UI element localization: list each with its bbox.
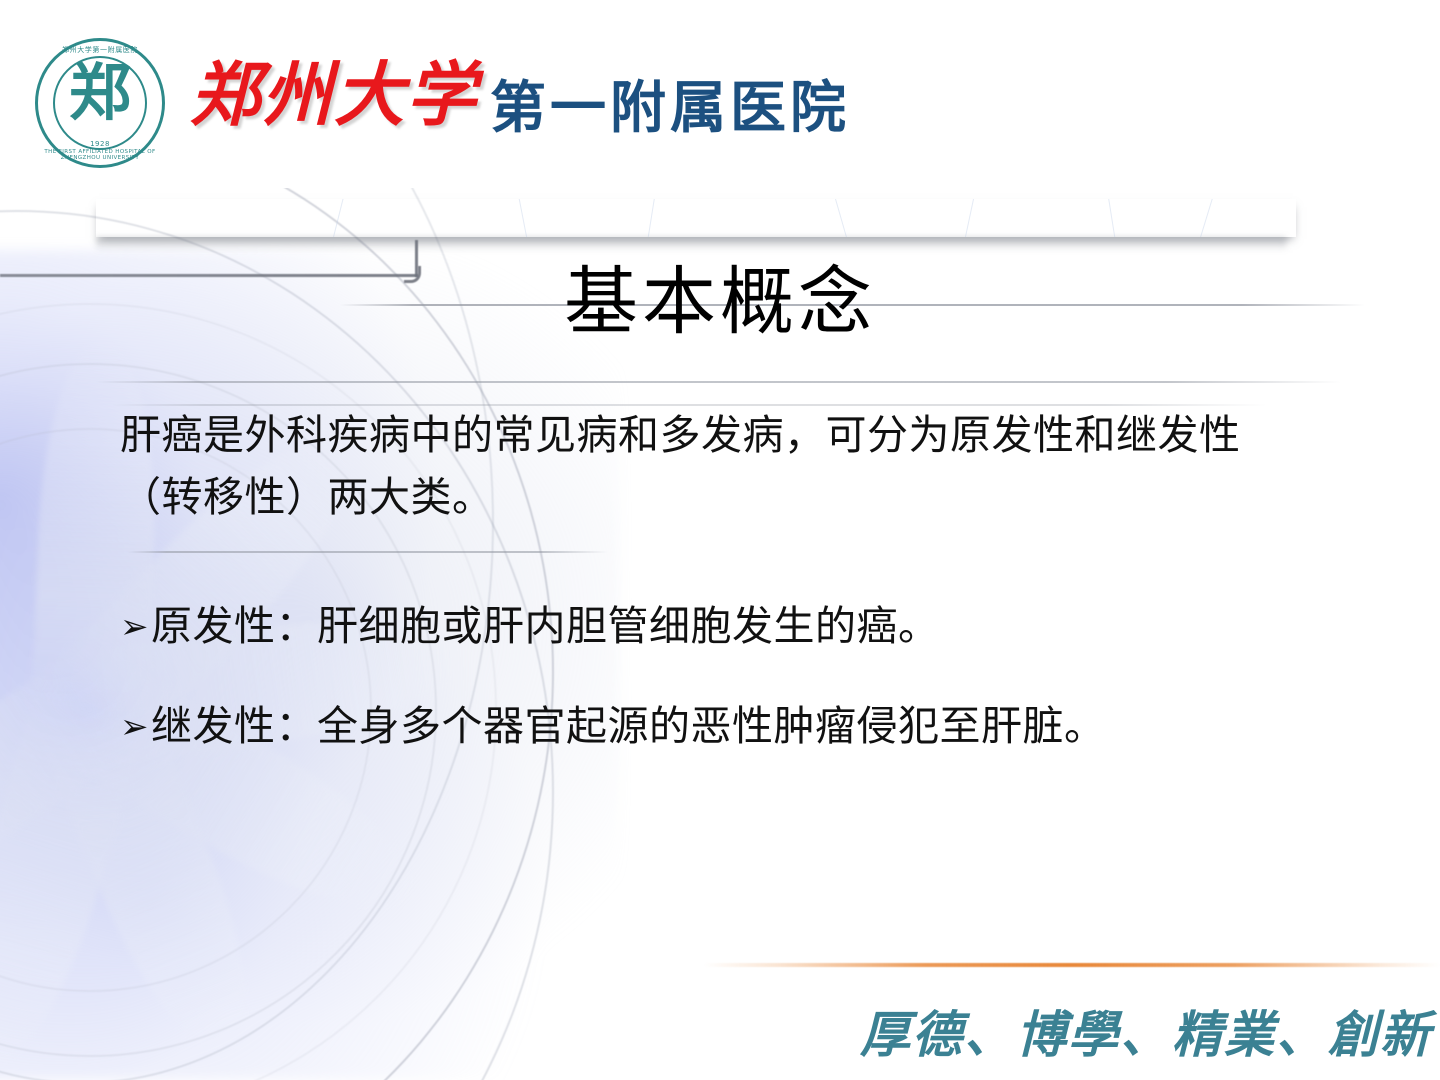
- content-divider: [128, 551, 608, 553]
- page-title: 基本概念: [0, 258, 1440, 346]
- arrow-bullet-icon: ➢: [120, 599, 149, 655]
- navy-accent-bar: [96, 199, 1296, 237]
- list-item: ➢继发性：全身多个器官起源的恶性肿瘤侵犯至肝脏。: [120, 698, 1106, 757]
- intro-paragraph: 肝癌是外科疾病中的常见病和多发病，可分为原发性和继发性（转移性）两大类。: [120, 404, 1295, 528]
- presentation-slide: 郑州大学第一附属医院 郑 1928 THE FIRST AFFILIATED H…: [0, 0, 1440, 1080]
- content-divider: [96, 381, 1341, 383]
- list-item: ➢原发性：肝细胞或肝内胆管细胞发生的癌。: [120, 598, 940, 657]
- list-item-label: 继发性：全身多个器官起源的恶性肿瘤侵犯至肝脏。: [151, 702, 1106, 750]
- seal-year: 1928: [33, 140, 167, 148]
- mesh-pattern: [96, 199, 1296, 237]
- seal-arc-top-text: 郑州大学第一附属医院: [33, 45, 167, 55]
- background-color-wash: [0, 250, 620, 1080]
- seal-glyph: 郑: [33, 62, 167, 124]
- university-name: 郑州大学: [190, 57, 478, 133]
- hospital-motto: 厚德、博學、精業、創新: [860, 1004, 1440, 1066]
- arrow-bullet-icon: ➢: [120, 699, 149, 755]
- slide-header: 郑州大学第一附属医院 郑 1928 THE FIRST AFFILIATED H…: [0, 0, 1440, 188]
- list-item-label: 原发性：肝细胞或肝内胆管细胞发生的癌。: [151, 602, 940, 650]
- university-seal-icon: 郑州大学第一附属医院 郑 1928 THE FIRST AFFILIATED H…: [33, 36, 167, 170]
- seal-arc-bottom-text: THE FIRST AFFILIATED HOSPITAL OF ZHENGZH…: [33, 149, 167, 161]
- footer-accent-line: [704, 963, 1440, 967]
- hospital-name: 第一附属医院: [490, 78, 850, 140]
